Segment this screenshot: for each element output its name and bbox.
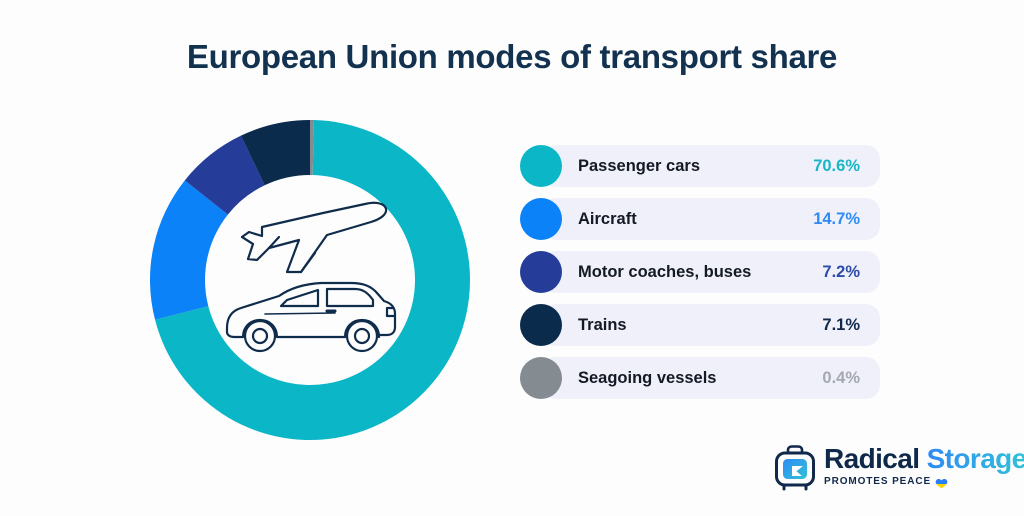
legend-color-swatch <box>520 251 562 293</box>
legend-item-trains[interactable]: Trains 7.1% <box>520 304 880 346</box>
legend-color-swatch <box>520 357 562 399</box>
logo-brand-second: Storage <box>927 443 1024 474</box>
logo-text: Radical Storage PROMOTES PEACE <box>824 442 996 494</box>
logo-tagline: PROMOTES PEACE <box>824 476 996 488</box>
legend-value: 7.1% <box>822 304 860 346</box>
legend-value: 0.4% <box>822 357 860 399</box>
car-icon <box>227 283 395 351</box>
center-illustration <box>205 180 415 380</box>
logo-tagline-text: PROMOTES PEACE <box>824 476 931 488</box>
legend: Passenger cars 70.6% Aircraft 14.7% Moto… <box>520 145 880 410</box>
legend-color-swatch <box>520 145 562 187</box>
legend-label: Seagoing vessels <box>578 357 717 399</box>
legend-value: 7.2% <box>822 251 860 293</box>
legend-item-seagoing-vessels[interactable]: Seagoing vessels 0.4% <box>520 357 880 399</box>
legend-label: Passenger cars <box>578 145 700 187</box>
legend-item-aircraft[interactable]: Aircraft 14.7% <box>520 198 880 240</box>
donut-chart <box>150 120 470 440</box>
suitcase-icon <box>772 444 818 492</box>
legend-item-motor-coaches-buses[interactable]: Motor coaches, buses 7.2% <box>520 251 880 293</box>
legend-color-swatch <box>520 304 562 346</box>
legend-value: 14.7% <box>813 198 860 240</box>
legend-label: Aircraft <box>578 198 637 240</box>
legend-label: Motor coaches, buses <box>578 251 751 293</box>
legend-label: Trains <box>578 304 627 346</box>
ukraine-flag-icon <box>935 478 948 489</box>
page-title: European Union modes of transport share <box>0 38 1024 76</box>
logo-wordmark: Radical Storage <box>824 442 996 476</box>
legend-value: 70.6% <box>813 145 860 187</box>
brand-logo[interactable]: Radical Storage PROMOTES PEACE <box>772 442 994 494</box>
legend-color-swatch <box>520 198 562 240</box>
legend-item-passenger-cars[interactable]: Passenger cars 70.6% <box>520 145 880 187</box>
airplane-icon <box>242 203 386 272</box>
logo-brand-first: Radical <box>824 443 919 474</box>
